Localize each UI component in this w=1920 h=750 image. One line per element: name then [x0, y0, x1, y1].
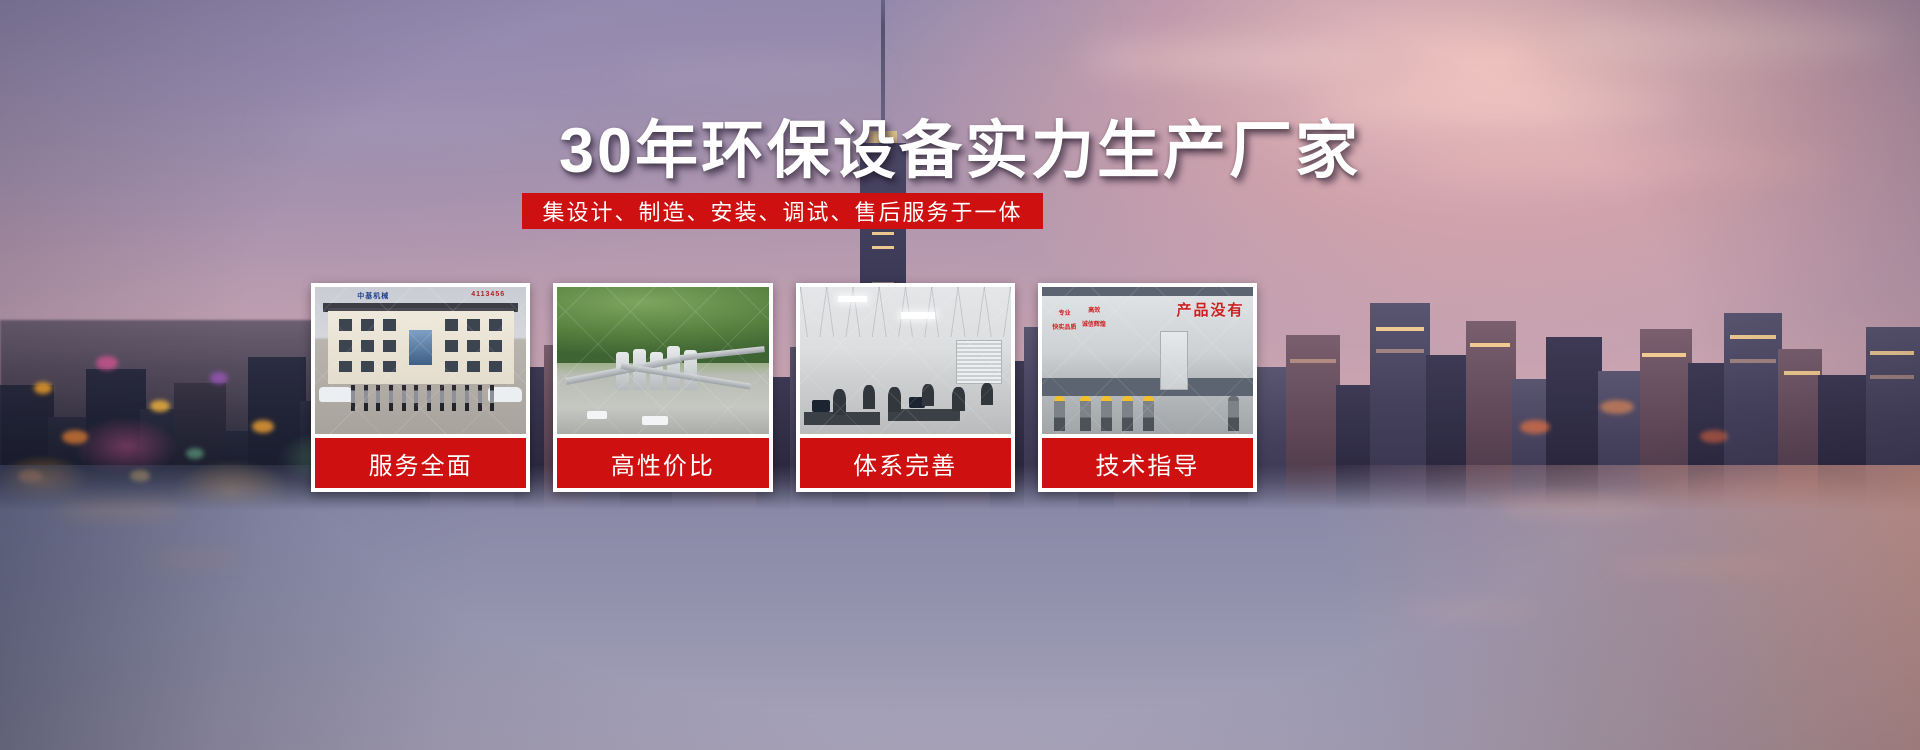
page-title: 30年环保设备实力生产厂家 — [0, 100, 1920, 191]
feature-card-list: 中基机械 4113456 — [311, 283, 1257, 492]
feature-card[interactable]: 体系完善 — [796, 283, 1015, 492]
watermark-pattern — [1042, 287, 1253, 434]
card-label-text: 服务全面 — [369, 446, 473, 481]
card-label-bar: 高性价比 — [557, 438, 768, 488]
card-photo-office-building: 中基机械 4113456 — [315, 287, 526, 434]
card-photo-production-plant — [557, 287, 768, 434]
card-label-text: 高性价比 — [611, 446, 715, 481]
feature-card[interactable]: 中基机械 4113456 — [311, 283, 530, 492]
subtitle-bar: 集设计、制造、安装、调试、售后服务于一体 — [522, 193, 1043, 229]
card-photo-office-interior — [800, 287, 1011, 434]
card-label-bar: 服务全面 — [315, 438, 526, 488]
watermark-pattern — [315, 287, 526, 434]
card-label-bar: 技术指导 — [1042, 438, 1253, 488]
hero-banner: 30年环保设备实力生产厂家 集设计、制造、安装、调试、售后服务于一体 — [0, 0, 1920, 750]
subtitle-text: 集设计、制造、安装、调试、售后服务于一体 — [542, 195, 1022, 227]
card-label-text: 体系完善 — [853, 446, 957, 481]
watermark-pattern — [800, 287, 1011, 434]
feature-card[interactable]: 产品没有 专业 快实品质 高效 诚信辉煌 技术指导 — [1038, 283, 1257, 492]
feature-card[interactable]: 高性价比 — [553, 283, 772, 492]
card-photo-factory-workers: 产品没有 专业 快实品质 高效 诚信辉煌 — [1042, 287, 1253, 434]
card-label-text: 技术指导 — [1095, 446, 1199, 481]
watermark-pattern — [557, 287, 768, 434]
card-label-bar: 体系完善 — [800, 438, 1011, 488]
